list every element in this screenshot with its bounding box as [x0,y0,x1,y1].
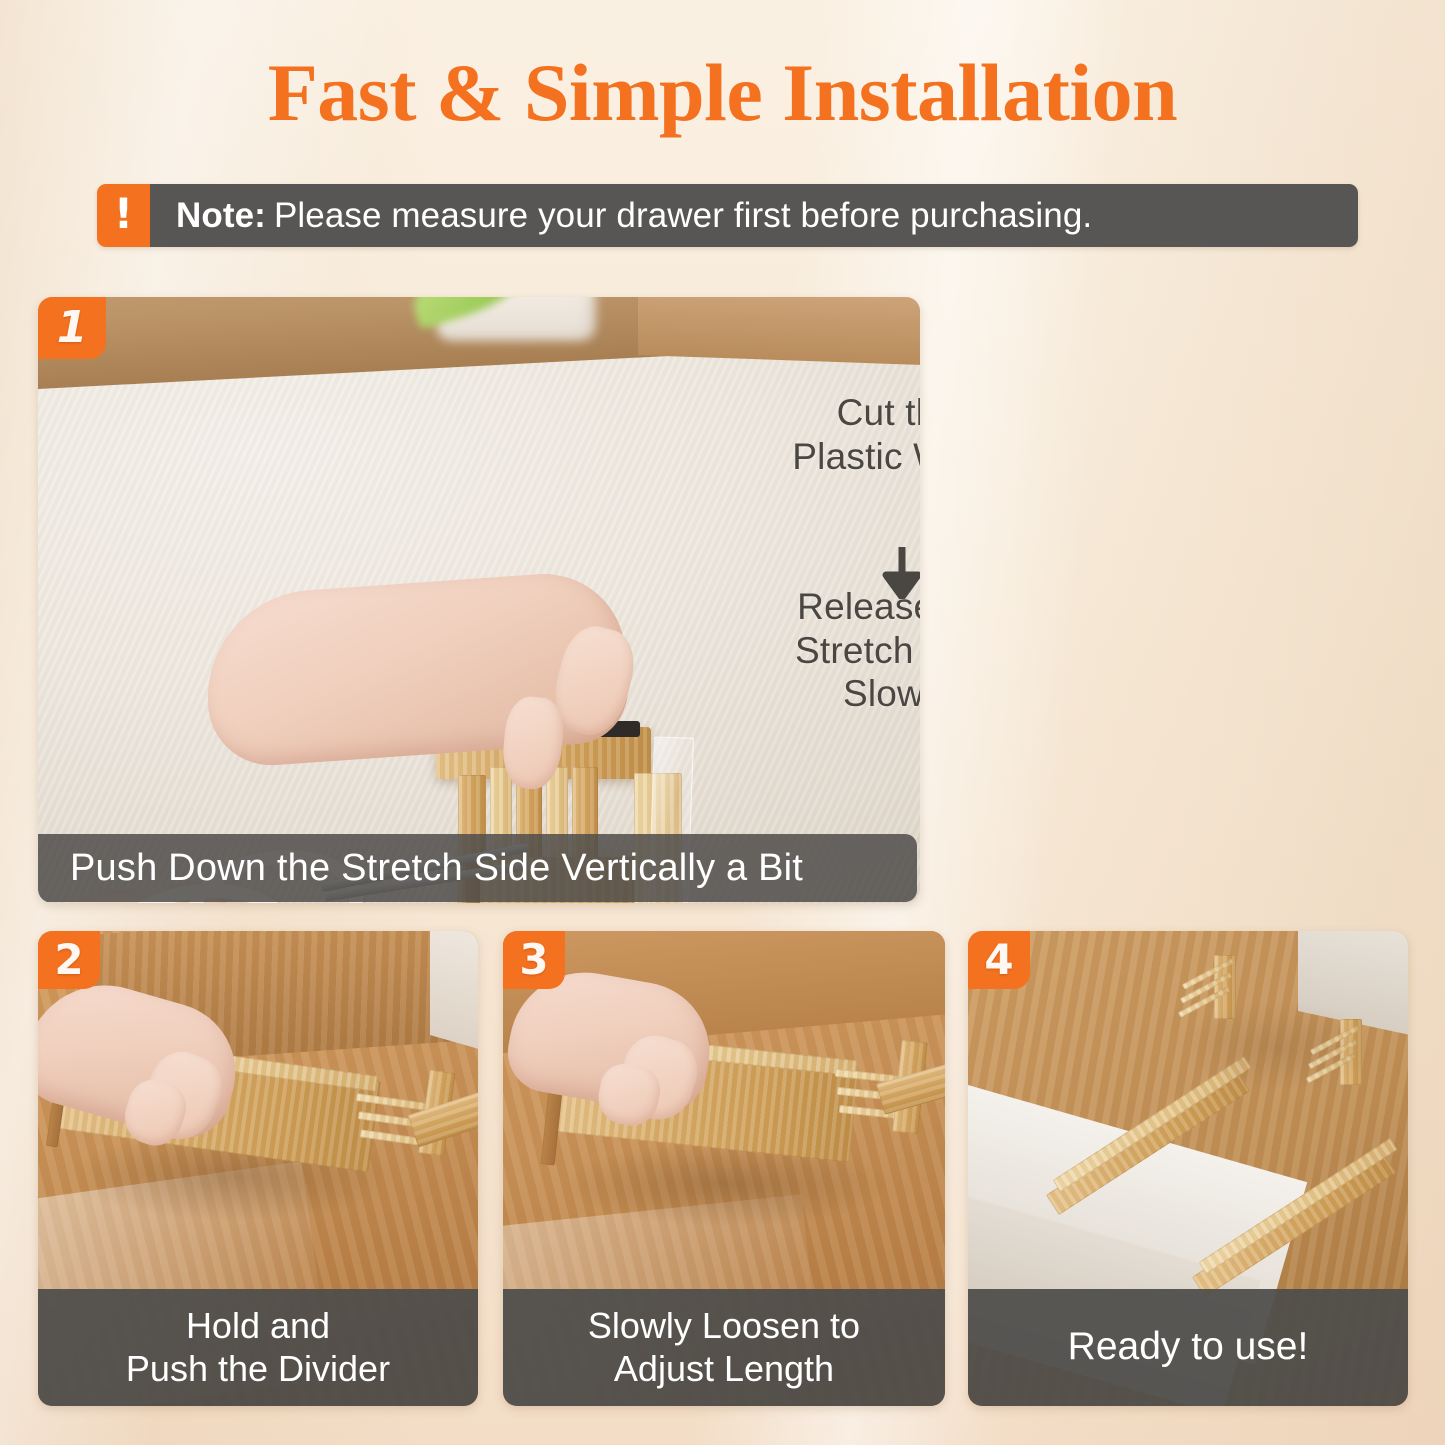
infographic-root: Fast & Simple Installation ! Note: Pleas… [0,0,1445,1445]
step-1-badge: 1 [38,297,106,359]
caption-line: Adjust Length [614,1348,834,1390]
step-4-panel: 4 Ready to use! [968,931,1408,1406]
step-1-caption: Push Down the Stretch Side Vertically a … [38,834,917,902]
caption-line: Ready to use! [1068,1324,1309,1370]
note-text-wrap: Note: Please measure your drawer first b… [150,184,1358,247]
step-3-panel: 3 Slowly Loosen to Adjust Length [503,931,945,1406]
side-text-line: Slowly [752,672,920,716]
note-label: Note: [176,196,266,236]
step-1-panel: 1 Cut the Plastic Wrap Release the Stret… [38,297,920,903]
note-message: Please measure your drawer first before … [274,196,1092,236]
step-2-caption: Hold and Push the Divider [38,1289,478,1406]
caption-line: Push the Divider [126,1348,390,1390]
step-4-badge: 4 [968,931,1030,989]
caption-line: Slowly Loosen to [588,1305,860,1347]
step-2-panel: 2 Hold and Push the Divider [38,931,478,1406]
page-title: Fast & Simple Installation [0,52,1445,134]
note-banner: ! Note: Please measure your drawer first… [97,184,1358,247]
side-text-line: Release the [752,585,920,629]
step-2-badge: 2 [38,931,100,989]
step-3-badge: 3 [503,931,565,989]
step-3-caption: Slowly Loosen to Adjust Length [503,1289,945,1406]
step-1-side-text-bottom: Release the Stretch Side Slowly [752,585,920,716]
side-text-line: Cut the [752,391,920,435]
caption-line: Hold and [186,1305,330,1347]
side-text-line: Plastic Wrap [752,435,920,479]
exclamation-icon: ! [97,184,150,247]
step-4-caption: Ready to use! [968,1289,1408,1406]
side-text-line: Stretch Side [752,629,920,673]
step-1-side-text-top: Cut the Plastic Wrap [752,391,920,478]
